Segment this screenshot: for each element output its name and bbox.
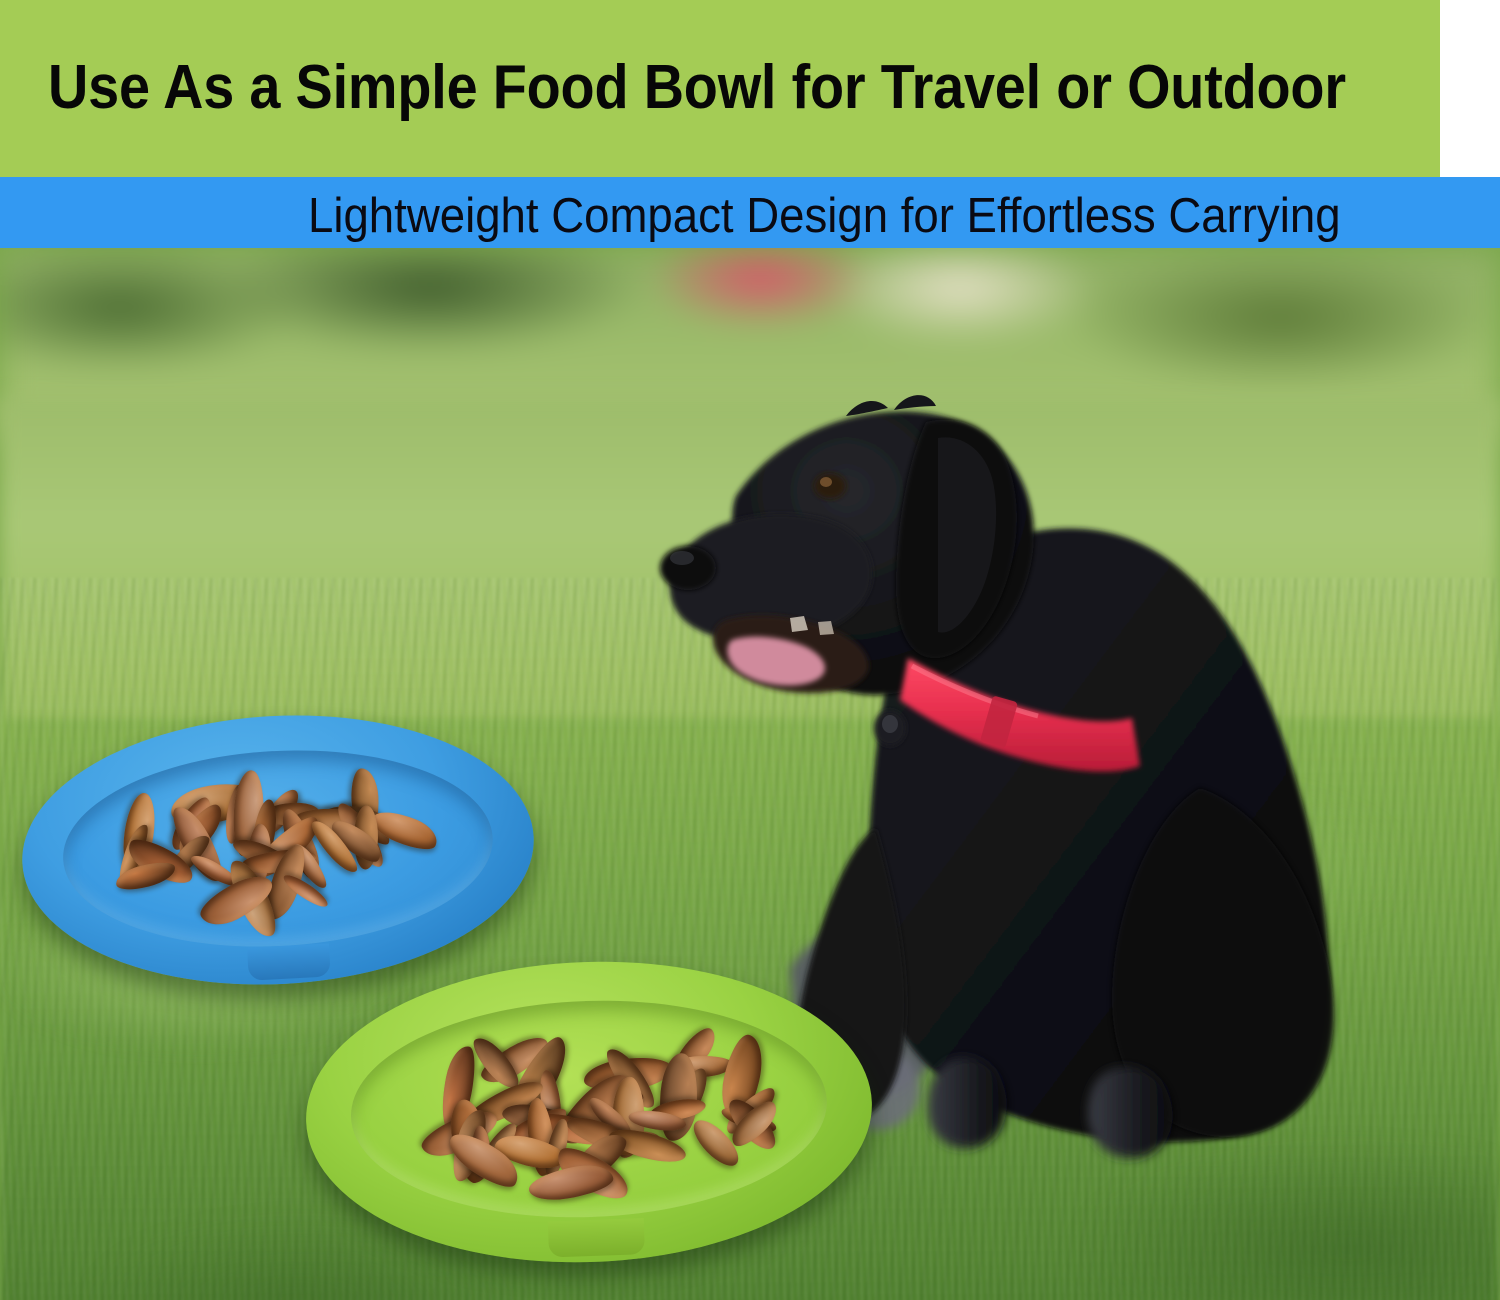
product-marketing-image: Use As a Simple Food Bowl for Travel or … [0,0,1500,1300]
headline-text: Use As a Simple Food Bowl for Travel or … [48,56,1346,120]
dog-leg [928,1057,1007,1148]
blue-bowl-kibble [15,703,540,997]
green-bowl [301,952,877,1272]
dog-head-tuft [894,395,936,410]
dog-tag-highlight [882,715,898,733]
subheadline-text: Lightweight Compact Design for Effortles… [308,190,1341,242]
blue-bowl [15,703,540,997]
green-bowl-kibble [301,952,877,1272]
dog-eye [814,473,846,499]
dog-nose-highlight [670,551,694,565]
dog-eye-highlight [820,477,832,487]
